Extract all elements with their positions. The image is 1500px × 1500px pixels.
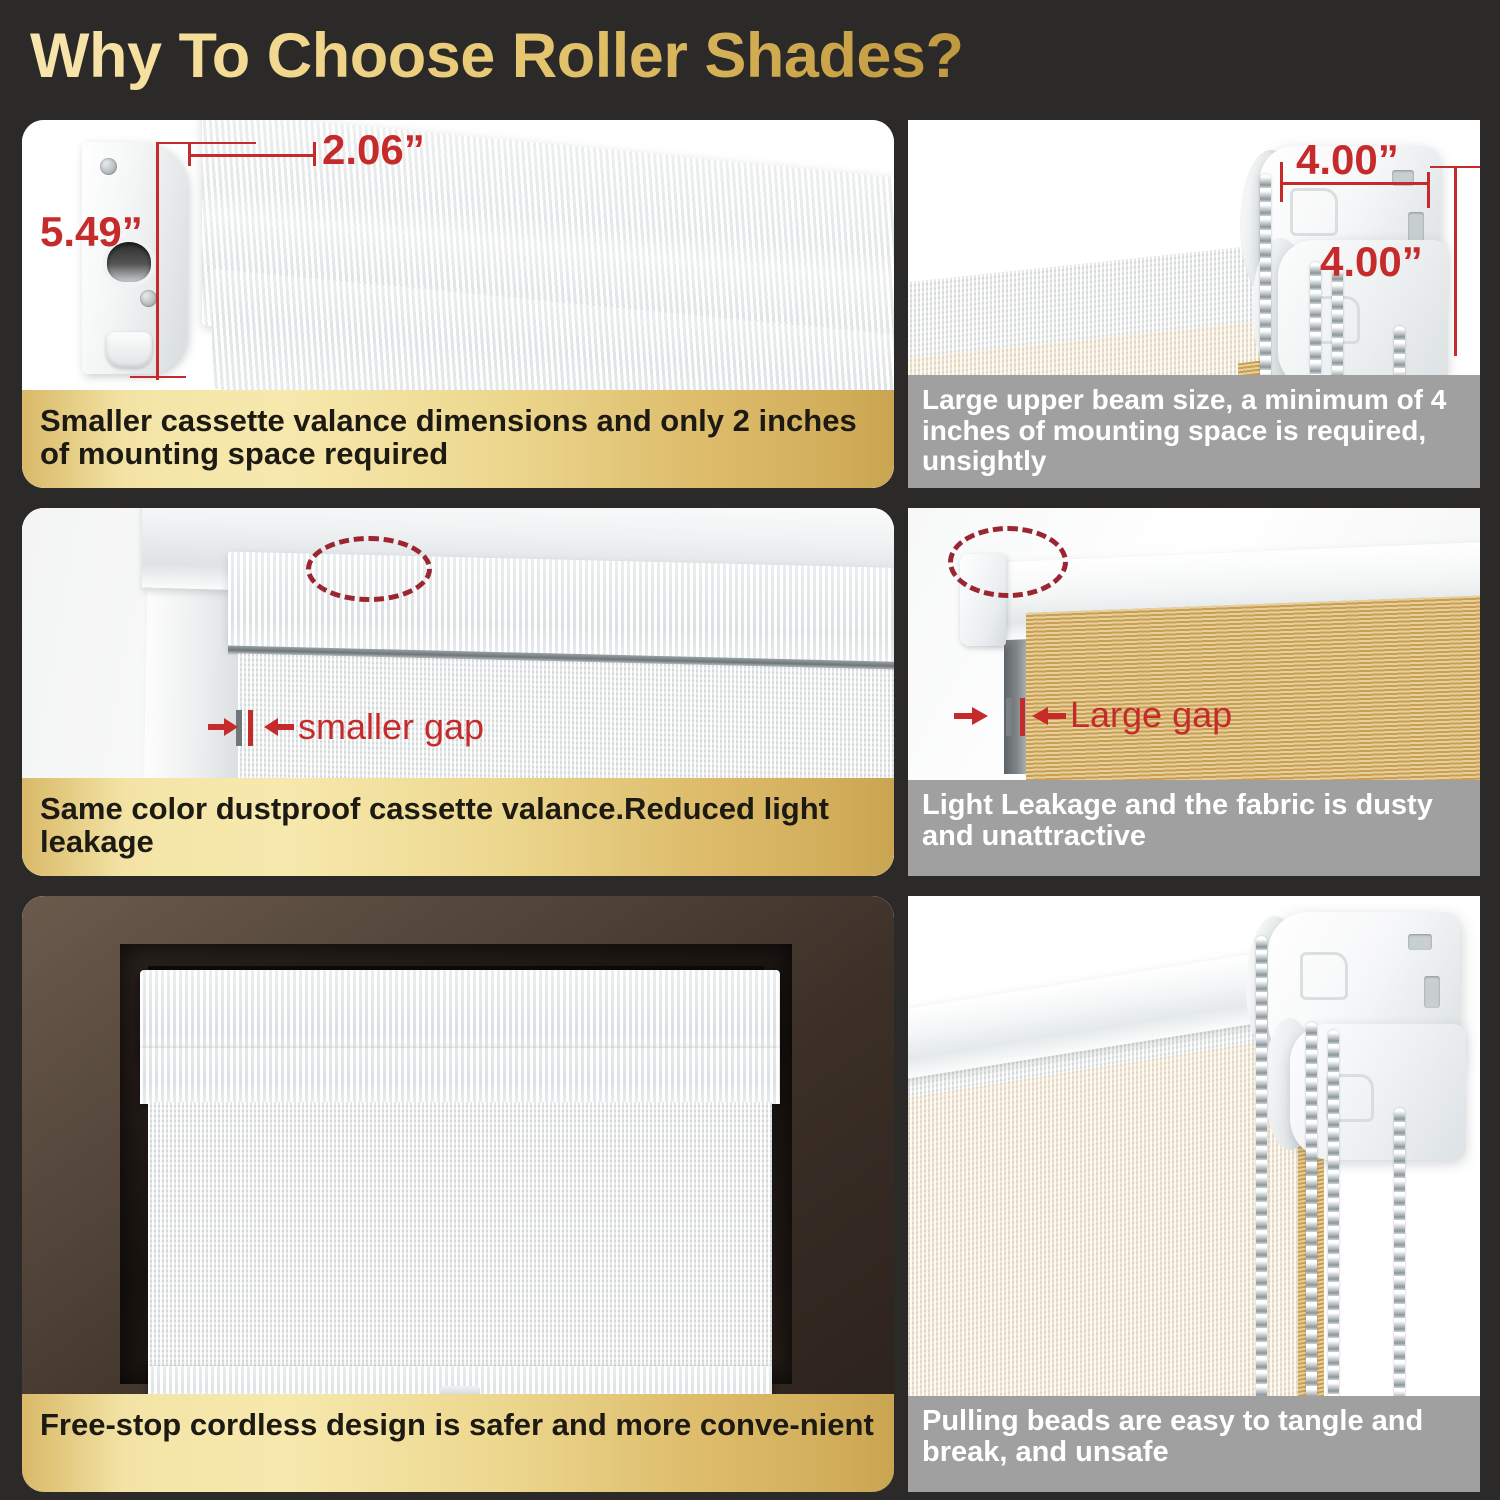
caption-cordless-design: Free-stop cordless design is safer and m… [22,1394,894,1492]
height-dimension-line [1454,166,1457,356]
highlight-ellipse [306,536,432,602]
bead-chain [1394,1108,1405,1436]
highlight-ellipse [948,526,1068,598]
gap-callout-label: Large gap [1070,694,1232,736]
bracket-notch [1424,976,1440,1008]
height-dimension-line [156,142,159,380]
width-dimension-tick-left [1280,162,1283,202]
cassette-knob [106,332,152,368]
arrow-right-icon [208,716,238,738]
width-dimension-tick-right [1427,172,1430,208]
height-dimension-tick-bottom [130,376,186,378]
width-dimension-tick-right [313,142,316,166]
panel-large-gap: Large gap Light Leakage and the fabric i… [908,508,1480,876]
valance-front-bar [140,1048,780,1104]
caption-large-gap: Light Leakage and the fabric is dusty an… [908,780,1480,876]
shade-fabric [148,1102,772,1390]
cassette-valance [140,970,780,1054]
bracket-notch [1408,934,1432,950]
arrow-right-icon [954,705,988,727]
panel-pulling-beads: Pulling beads are easy to tangle and bre… [908,896,1480,1492]
page-header: Why To Choose Roller Shades? [0,0,1500,112]
cassette-end-cap [82,142,187,374]
width-dimension-line [188,154,316,157]
screw-icon [140,290,157,307]
bracket-emboss-icon [1300,952,1348,1000]
width-dimension-tick-left [188,144,191,166]
height-dimension-label: 5.49” [40,208,143,256]
caption-smaller-gap: Same color dustproof cassette valance.Re… [22,778,894,876]
bracket-emboss-icon [1290,188,1338,236]
panel-cassette-dimensions: 2.06” 5.49” Smaller cassette valance dim… [22,120,894,488]
gap-marker-right [248,710,253,746]
screw-icon [100,158,117,175]
gap-marker-right [1020,698,1025,736]
arrow-left-icon [1032,705,1066,727]
gap-marker [1006,698,1012,736]
comparison-grid: 2.06” 5.49” Smaller cassette valance dim… [0,112,1500,1500]
gap-callout-label: smaller gap [298,706,484,748]
panel-large-upper-beam: 4.00” 4.00” Large upper beam size, a min… [908,120,1480,488]
arrow-left-icon [260,716,294,738]
caption-cassette-dimensions: Smaller cassette valance dimensions and … [22,390,894,488]
bead-chain [1328,1030,1339,1436]
bead-chain [1306,1022,1317,1436]
panel-cordless-design: Free-stop cordless design is safer and m… [22,896,894,1492]
width-dimension-label: 2.06” [322,126,425,174]
panel-smaller-gap: smaller gap Same color dustproof cassett… [22,508,894,876]
caption-large-upper-beam: Large upper beam size, a minimum of 4 in… [908,375,1480,488]
width-dimension-label: 4.00” [1296,136,1399,184]
page-title: Why To Choose Roller Shades? [30,20,963,92]
height-dimension-label: 4.00” [1320,238,1423,286]
bead-chain [1256,936,1267,1436]
height-dimension-tick-top [1430,166,1480,168]
width-extension-line [156,142,256,144]
caption-pulling-beads: Pulling beads are easy to tangle and bre… [908,1396,1480,1492]
